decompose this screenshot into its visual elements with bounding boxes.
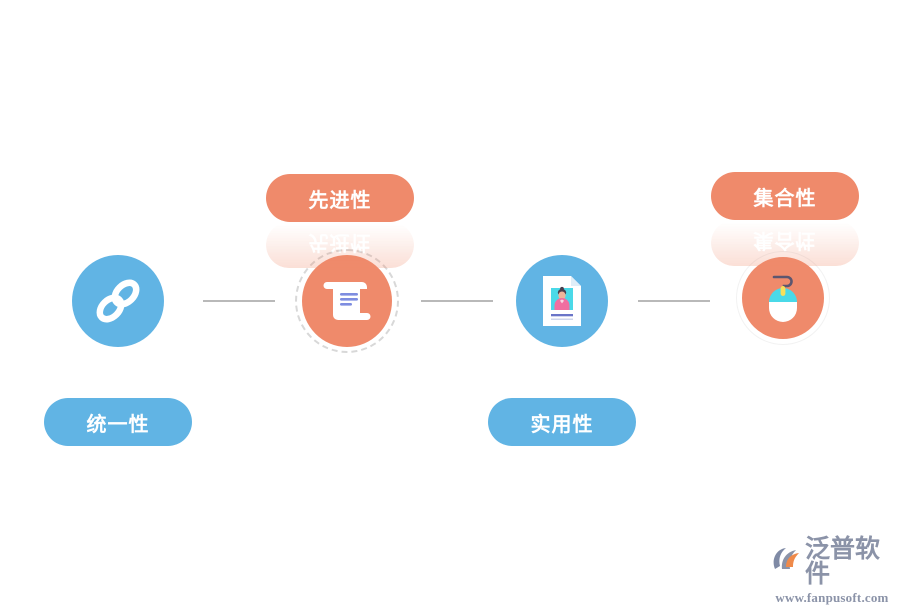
badge-aggregate-label: 集合性: [754, 182, 817, 211]
watermark-url: www.fanpusoft.com: [775, 590, 888, 606]
badge-advanced[interactable]: 先进性: [266, 174, 414, 222]
watermark-brand-name: 泛普软件: [805, 537, 892, 587]
connector-line-unity-advanced: [203, 300, 275, 302]
badge-unity-label: 统一性: [87, 408, 150, 437]
watermark: 泛普软件 www.fanpusoft.com: [772, 537, 892, 606]
scroll-document-icon: [321, 276, 373, 326]
chain-link-icon: [91, 274, 145, 328]
node-circle-unity[interactable]: [72, 255, 164, 347]
badge-aggregate-wrap: 集合性 集合性: [711, 172, 859, 220]
badge-advanced-reflection: 先进性: [266, 222, 414, 268]
computer-mouse-icon: [757, 270, 809, 326]
badge-advanced-wrap: 先进性 先进性: [266, 174, 414, 222]
diagram-canvas: 先进性 先进性 集合性 集合性 统一性 实用性: [0, 0, 900, 600]
badge-unity[interactable]: 统一性: [44, 398, 192, 446]
id-card-icon: [540, 274, 584, 328]
badge-practical-label: 实用性: [531, 408, 594, 437]
badge-aggregate-reflection-label: 集合性: [754, 229, 817, 258]
badge-aggregate[interactable]: 集合性: [711, 172, 859, 220]
node-circle-practical[interactable]: [516, 255, 608, 347]
watermark-brand-row: 泛普软件: [772, 537, 892, 587]
fanpu-swoosh-logo-icon: [772, 546, 802, 578]
badge-practical[interactable]: 实用性: [488, 398, 636, 446]
badge-advanced-reflection-label: 先进性: [309, 231, 372, 260]
badge-advanced-label: 先进性: [309, 184, 372, 213]
badge-aggregate-reflection: 集合性: [711, 220, 859, 266]
connector-line-advanced-practical: [421, 300, 493, 302]
connector-line-practical-aggregate: [638, 300, 710, 302]
